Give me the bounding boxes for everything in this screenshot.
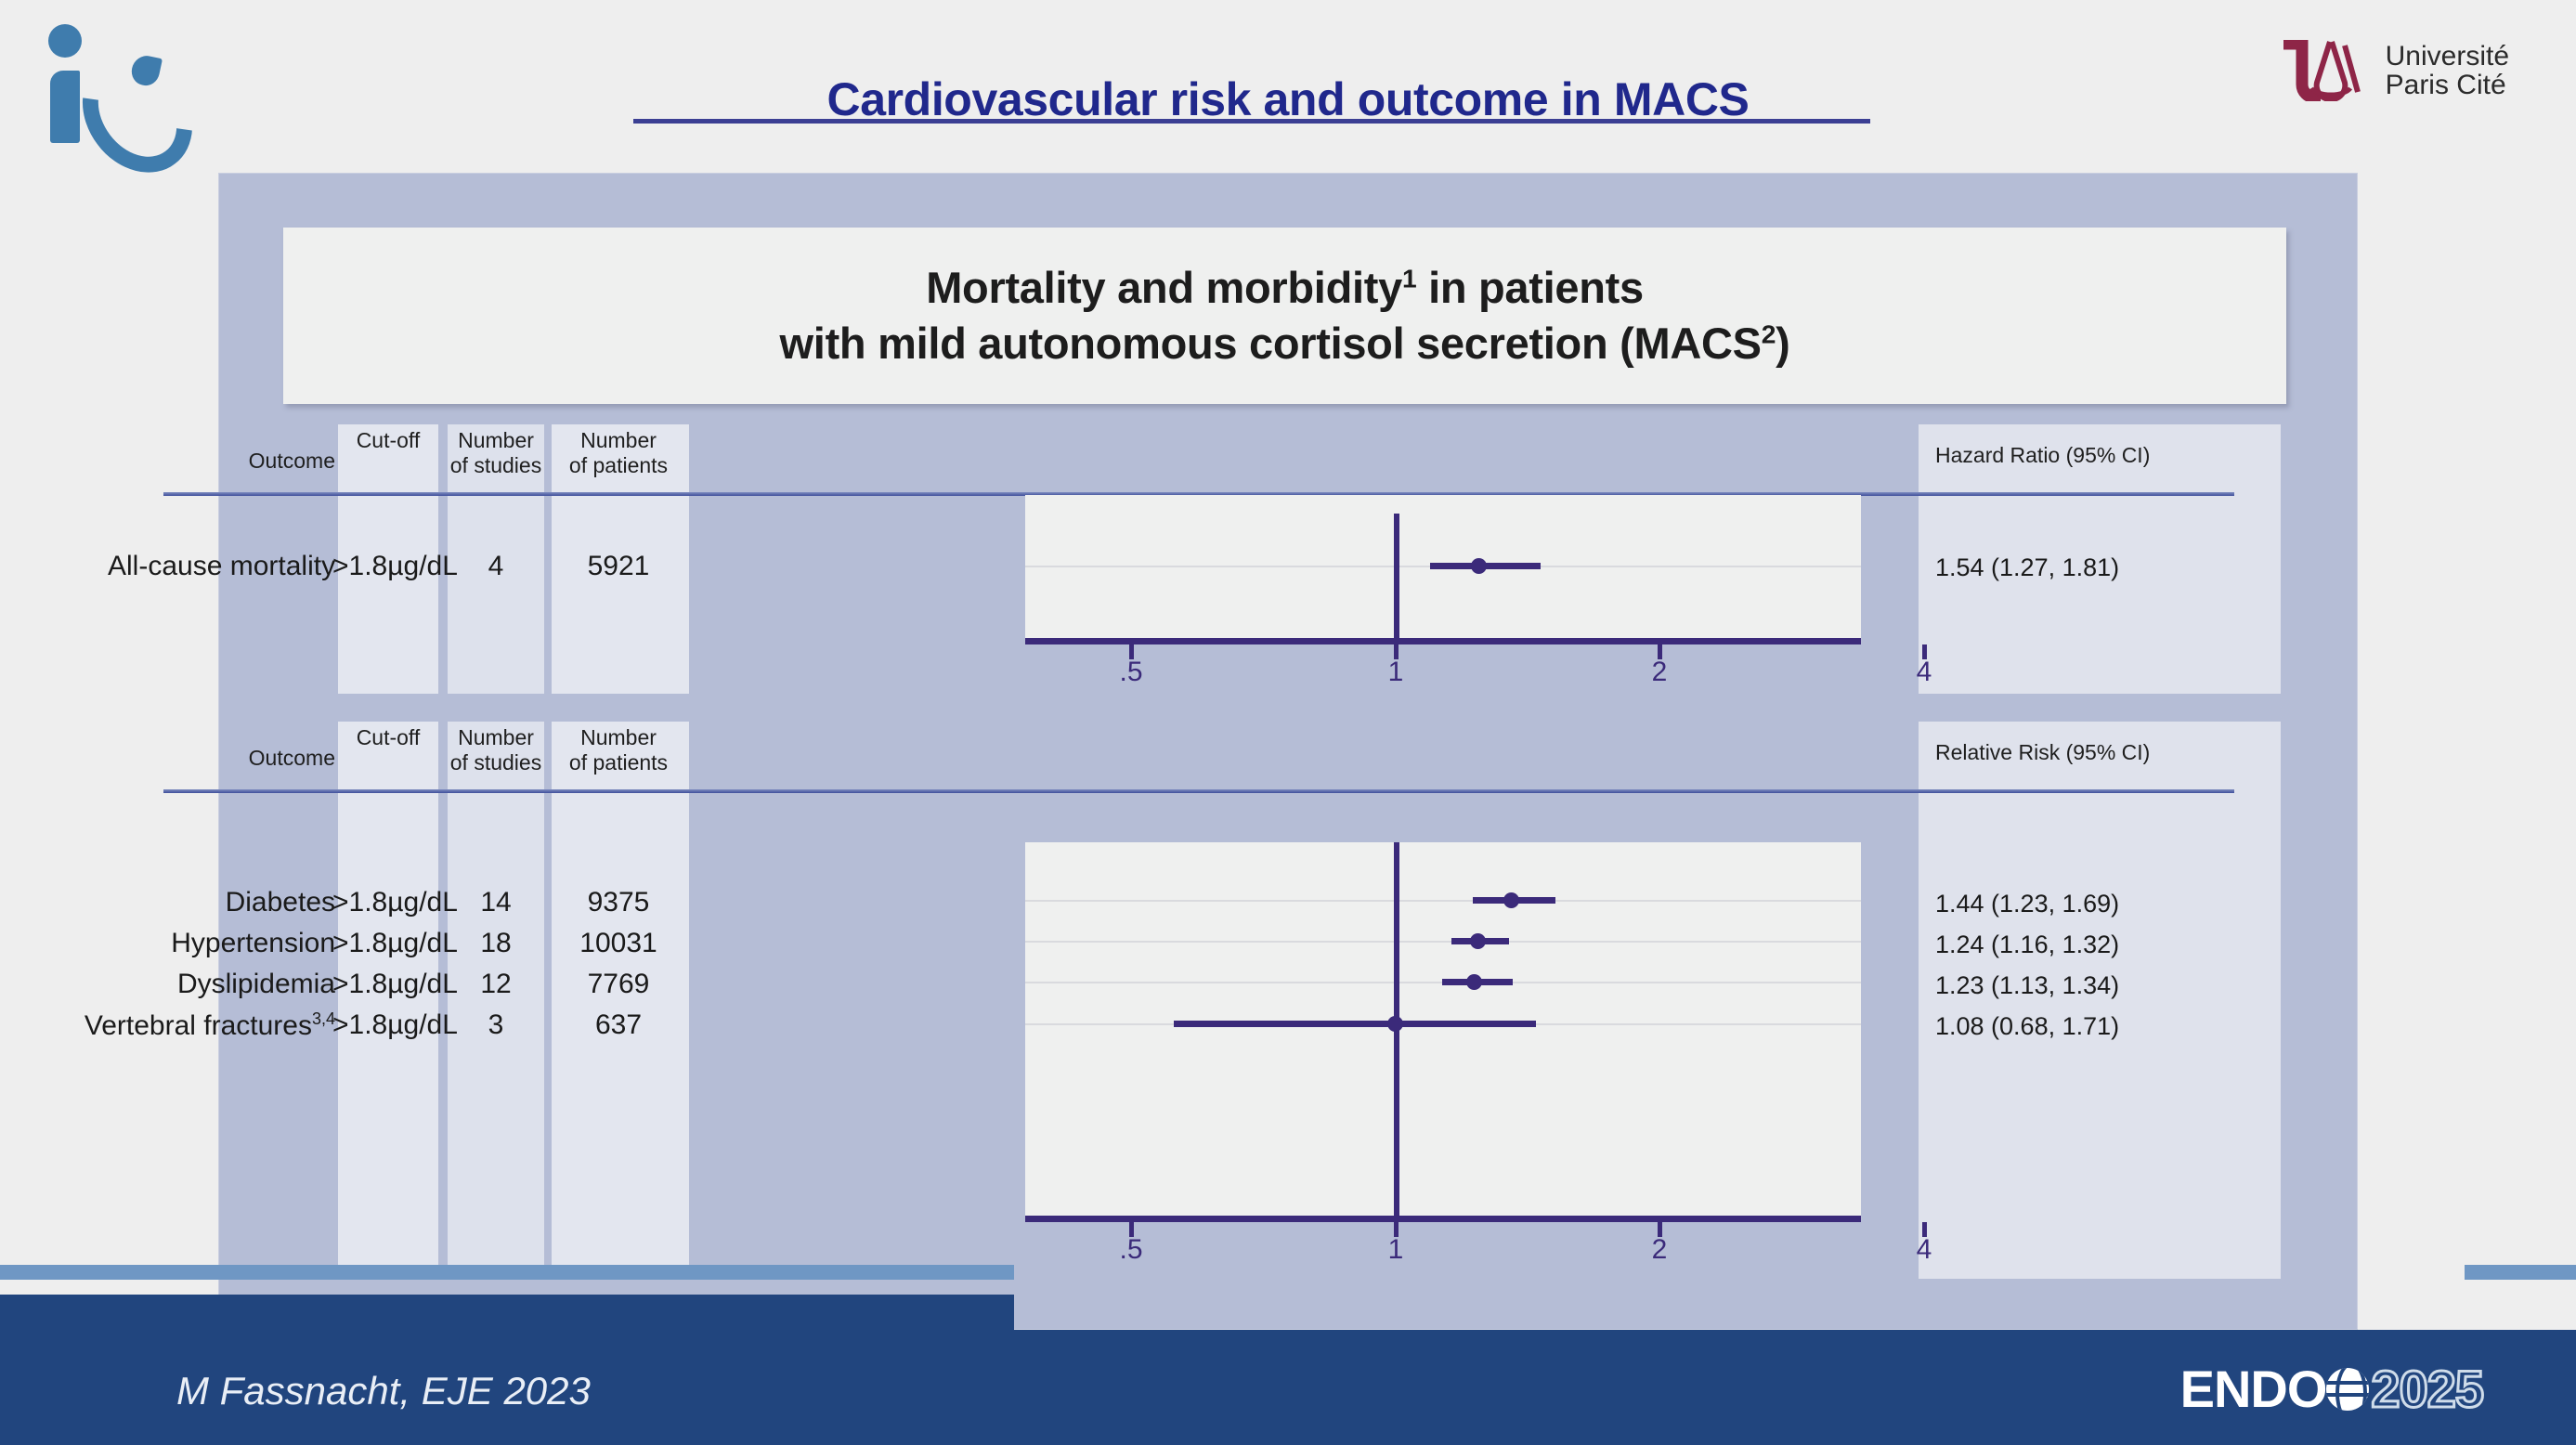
page-title: Cardiovascular risk and outcome in MACS xyxy=(0,72,2576,126)
x-axis-morbidity xyxy=(1025,1216,1861,1222)
slide-panel: Mortality and morbidity1 in patients wit… xyxy=(219,174,2357,1329)
endo-2025-logo: ENDO 2025 xyxy=(2180,1359,2483,1419)
citation-text: M Fassnacht, EJE 2023 xyxy=(176,1369,591,1413)
upc-line-2: Paris Cité xyxy=(2386,71,2509,99)
footer-banner: M Fassnacht, EJE 2023 ENDO 2025 xyxy=(0,1330,2576,1445)
row-cutoff-diabetes: >1.8µg/dL xyxy=(332,887,444,918)
row-cutoff-all-cause-mortality: >1.8µg/dL xyxy=(332,551,444,582)
table-header-row-morbidity: Outcome Cut-off Number of studies Number… xyxy=(219,722,2357,787)
upc-line-1: Université xyxy=(2386,42,2509,71)
page-title-underline xyxy=(633,119,1870,124)
row-studies-diabetes: 14 xyxy=(440,887,552,918)
column-header-effect-rr: Relative Risk (95% CI) xyxy=(1935,740,2270,765)
row-effect-diabetes: 1.44 (1.23, 1.69) xyxy=(1935,890,2270,918)
point-estimate-all-cause-mortality xyxy=(1471,558,1487,574)
x-ticklabel2-0: .5 xyxy=(1103,1234,1159,1266)
row-effect-hypertension: 1.24 (1.16, 1.32) xyxy=(1935,931,2270,959)
column-header-cutoff: Cut-off xyxy=(338,428,438,453)
row-outcome-hypertension: Hypertension xyxy=(80,928,335,959)
column-header-studies-2: Number of studies xyxy=(440,725,552,775)
column-band-cutoff-2 xyxy=(338,722,438,1279)
column-band-studies-2 xyxy=(448,722,544,1279)
column-header-patients-2-line1: Number xyxy=(580,725,657,749)
slide-title-sup-2: 2 xyxy=(1762,319,1776,348)
forest-table-morbidity: Outcome Cut-off Number of studies Number… xyxy=(219,722,2357,1279)
row-outcome-dyslipidemia: Dyslipidemia xyxy=(80,969,335,1000)
null-reference-line-mortality xyxy=(1394,514,1399,642)
point-estimate-diabetes xyxy=(1503,892,1519,908)
upc-wordmark: Université Paris Cité xyxy=(2386,42,2509,99)
logo-dot-shape xyxy=(48,24,82,58)
x-axis-mortality xyxy=(1025,638,1861,644)
row-effect-dyslipidemia: 1.23 (1.13, 1.34) xyxy=(1935,971,2270,1000)
column-header-studies-line2: of studies xyxy=(450,453,541,477)
endo-wordmark: ENDO xyxy=(2180,1359,2327,1419)
slide-title-line-2-text: with mild autonomous cortisol secretion … xyxy=(780,319,1762,368)
column-header-patients-line2: of patients xyxy=(569,453,668,477)
table-header-row-mortality: Outcome Cut-off Number of studies Number… xyxy=(219,424,2357,489)
row-effect-vertebral-fractures: 1.08 (0.68, 1.71) xyxy=(1935,1012,2270,1041)
row-studies-all-cause-mortality: 4 xyxy=(440,551,552,582)
column-header-cutoff-2: Cut-off xyxy=(338,725,438,750)
endo-year: 2025 xyxy=(2371,1359,2483,1419)
point-estimate-hypertension xyxy=(1470,933,1486,949)
slide-title-sup-1: 1 xyxy=(1402,263,1416,293)
row-outcome-diabetes: Diabetes xyxy=(80,887,335,918)
effect-column-band-2 xyxy=(1919,722,2281,1279)
row-patients-dyslipidemia: 7769 xyxy=(546,969,691,1000)
slide-title-line-1-text: Mortality and morbidity xyxy=(926,263,1402,312)
column-header-outcome: Outcome xyxy=(163,449,335,474)
row-studies-hypertension: 18 xyxy=(440,928,552,959)
column-band-patients-2 xyxy=(552,722,689,1279)
point-estimate-vertebral-fractures xyxy=(1387,1016,1403,1032)
column-header-patients-line1: Number xyxy=(580,428,657,452)
column-header-patients-2-line2: of patients xyxy=(569,750,668,775)
row-cutoff-hypertension: >1.8µg/dL xyxy=(332,928,444,959)
globe-icon xyxy=(2326,1368,2369,1411)
accent-stripe-right xyxy=(2465,1265,2576,1280)
column-header-patients: Number of patients xyxy=(546,428,691,477)
forest-plot-area-morbidity xyxy=(1025,842,1861,1219)
ci-bar-vertebral-fractures xyxy=(1174,1021,1536,1027)
column-header-studies-2-line2: of studies xyxy=(450,750,541,775)
column-header-studies-line1: Number xyxy=(458,428,534,452)
forest-table-mortality: Outcome Cut-off Number of studies Number… xyxy=(219,424,2357,694)
table-header-rule-morbidity xyxy=(163,789,2234,793)
row-outcome-vertebral-fractures: Vertebral fractures3,4 xyxy=(80,1009,335,1042)
universite-paris-cite-logo: Université Paris Cité xyxy=(2280,35,2509,106)
column-header-effect-hr: Hazard Ratio (95% CI) xyxy=(1935,443,2270,468)
column-header-patients-2: Number of patients xyxy=(546,725,691,775)
row-outcome-vertebral-fractures-text: Vertebral fractures xyxy=(85,1010,312,1041)
x-ticklabel2-2: 2 xyxy=(1632,1234,1687,1266)
row-patients-all-cause-mortality: 5921 xyxy=(546,551,691,582)
slide-title-line-2-tail: ) xyxy=(1776,319,1789,368)
column-header-outcome-2: Outcome xyxy=(163,746,335,771)
x-ticklabel-2: 2 xyxy=(1632,657,1687,688)
row-cutoff-dyslipidemia: >1.8µg/dL xyxy=(332,969,444,1000)
x-ticklabel-0: .5 xyxy=(1103,657,1159,688)
x-ticklabel-1: 1 xyxy=(1368,657,1424,688)
x-ticklabel-3: 4 xyxy=(1896,657,1952,688)
row-cutoff-vertebral-fractures: >1.8µg/dL xyxy=(332,1009,444,1041)
point-estimate-dyslipidemia xyxy=(1466,974,1482,990)
plot-gridline-diabetes xyxy=(1025,900,1861,902)
row-effect-all-cause-mortality: 1.54 (1.27, 1.81) xyxy=(1935,553,2270,582)
column-header-studies: Number of studies xyxy=(440,428,552,477)
row-outcome-all-cause-mortality: All-cause mortality xyxy=(108,551,335,582)
x-ticklabel2-1: 1 xyxy=(1368,1234,1424,1266)
row-studies-vertebral-fractures: 3 xyxy=(440,1009,552,1041)
row-patients-hypertension: 10031 xyxy=(546,928,691,959)
slide-title-line-2: with mild autonomous cortisol secretion … xyxy=(780,316,1790,371)
row-studies-dyslipidemia: 12 xyxy=(440,969,552,1000)
slide-title-line-1-tail: in patients xyxy=(1416,263,1643,312)
column-header-studies-2-line1: Number xyxy=(458,725,534,749)
slide-title: Mortality and morbidity1 in patients wit… xyxy=(283,228,2286,404)
upc-mark-icon xyxy=(2280,40,2371,101)
row-patients-diabetes: 9375 xyxy=(546,887,691,918)
row-patients-vertebral-fractures: 637 xyxy=(546,1009,691,1041)
accent-stripe-left xyxy=(0,1265,1014,1280)
slide-title-line-1: Mortality and morbidity1 in patients xyxy=(926,260,1644,316)
x-ticklabel2-3: 4 xyxy=(1896,1234,1952,1266)
plot-gridline-hypertension xyxy=(1025,941,1861,943)
